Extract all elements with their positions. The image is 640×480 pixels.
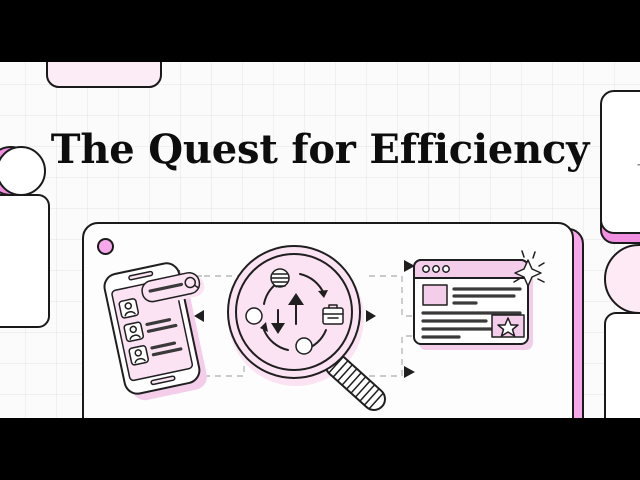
left-card bbox=[0, 194, 50, 328]
illustration-card bbox=[82, 222, 574, 418]
circle-icon bbox=[296, 338, 312, 354]
page-title: The Quest for Efficiency bbox=[0, 126, 640, 173]
star-badge bbox=[492, 315, 524, 337]
mobile-contacts-mockup bbox=[102, 256, 225, 404]
window-dots bbox=[423, 266, 449, 272]
slide-stage: → The Quest for Efficiency bbox=[0, 0, 640, 480]
image-placeholder bbox=[423, 285, 447, 305]
right-card-lower bbox=[604, 312, 640, 418]
hatched-circle-icon bbox=[271, 269, 289, 287]
illustration-artwork bbox=[84, 224, 572, 418]
briefcase-icon bbox=[323, 305, 343, 324]
letterbox-top bbox=[0, 0, 640, 62]
slide-canvas: → The Quest for Efficiency bbox=[0, 62, 640, 418]
letterbox-bottom bbox=[0, 418, 640, 480]
contact-row bbox=[119, 298, 139, 318]
magnifying-glass bbox=[228, 246, 390, 415]
browser-window-mockup bbox=[414, 251, 544, 350]
circle-icon bbox=[246, 308, 262, 324]
top-left-pill bbox=[46, 62, 162, 88]
